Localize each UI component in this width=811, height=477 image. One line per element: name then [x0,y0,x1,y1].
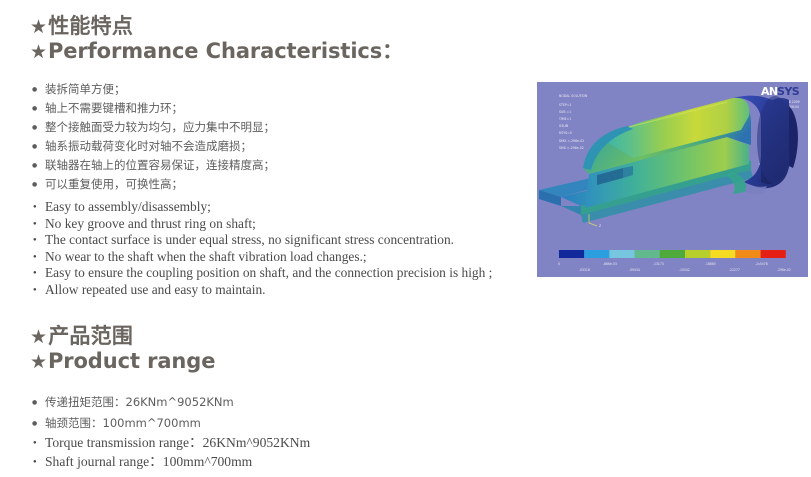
fea-anno-line: DMX =.296e-02 [559,139,584,143]
performance-heading-en-line: ★Performance Characteristics： [30,39,403,64]
list-item: 装拆简单方便； [32,80,275,99]
fea-anno-line: STEP=1 [559,103,572,107]
fea-tick-label: 0 [558,262,560,266]
fea-anno-line: TIME=1 [558,117,571,121]
fea-anno-line: NODAL SOLUTION [559,94,588,98]
product-range-bullets-cn: 传递扭矩范围：26KNm^9052KNm 轴颈范围：100mm^700mm [32,392,234,434]
performance-heading-cn-line: ★性能特点 [30,14,403,39]
svg-text:SYS: SYS [777,85,800,98]
list-item: Shaft journal range：100mm^700mm [32,453,310,472]
star-icon: ★ [30,41,47,63]
fea-anno-line: USUM [559,124,569,128]
performance-heading-en-text: Performance Characteristics： [48,39,403,63]
product-range-heading-cn-text: 产品范围 [48,324,133,348]
star-icon: ★ [30,351,47,373]
performance-bullets-cn: 装拆简单方便； 轴上不需要键槽和推力环； 整个接触面受力较为均匀，应力集中不明显… [32,80,275,194]
performance-bullets-en: Easy to assembly/disassembly; No key gro… [32,199,492,299]
product-range-heading-en-text: Product range [48,349,215,373]
product-range-heading-en-line: ★Product range [30,349,215,374]
product-range-bullets-en: Torque transmission range：26KNm^9052KNm … [32,434,310,471]
list-item: No wear to the shaft when the shaft vibr… [32,249,492,266]
product-range-heading-cn-line: ★产品范围 [30,324,215,349]
fea-colorbar [559,250,786,258]
list-item: No key groove and thrust ring on shaft; [32,216,492,233]
fea-tick-label: .22277 [729,268,740,272]
fea-simulation-figure: AN SYS FEB 18 2009 07:06:04 NODAL SOLUTI… [537,82,808,277]
list-item: Torque transmission range：26KNm^9052KNm [32,434,310,453]
star-icon: ★ [30,16,47,38]
list-item: 轴上不需要键槽和推力环； [32,99,275,118]
fea-anno-line: SMX =.296e-02 [559,146,584,150]
fea-tick-label: .03318 [579,268,590,272]
list-item: 传递扭矩范围：26KNm^9052KNm [32,392,234,413]
fea-anno-line: SUB =1 [559,110,571,114]
fea-tick-label: .866e-03 [603,262,617,266]
product-range-heading-block: ★产品范围 ★Product range [30,324,215,374]
performance-heading-block: ★性能特点 ★Performance Characteristics： [30,14,403,64]
fea-tick-label: .18885 [705,262,716,266]
star-icon: ★ [30,326,47,348]
list-item: 联轴器在轴上的位置容易保证，连接精度高； [32,156,275,175]
list-item: 轴颈范围：100mm^700mm [32,413,234,434]
list-item: Allow repeated use and easy to maintain. [32,282,492,299]
fea-tick-label: .2x5478 [755,262,768,266]
fea-tick-label: .13173 [653,262,664,266]
svg-text:Z: Z [599,224,601,228]
performance-heading-cn-text: 性能特点 [48,14,133,38]
list-item: 整个接触面受力较为均匀，应力集中不明显； [32,118,275,137]
list-item: Easy to ensure the coupling position on … [32,265,492,282]
ansys-logo: AN SYS [761,85,800,98]
list-item: Easy to assembly/disassembly; [32,199,492,216]
fea-tick-label: .296e-02 [777,268,791,272]
fea-simulation-svg: AN SYS FEB 18 2009 07:06:04 NODAL SOLUTI… [537,82,808,277]
fea-anno-line: RSYS=0 [559,131,572,135]
list-item: 轴系振动载荷变化时对轴不会造成磨损； [32,137,275,156]
list-item: The contact surface is under equal stres… [32,232,492,249]
fea-tick-label: .10342 [679,268,690,272]
list-item: 可以重复使用，可换性高； [32,175,275,194]
fea-tick-label: .09434 [629,268,640,272]
